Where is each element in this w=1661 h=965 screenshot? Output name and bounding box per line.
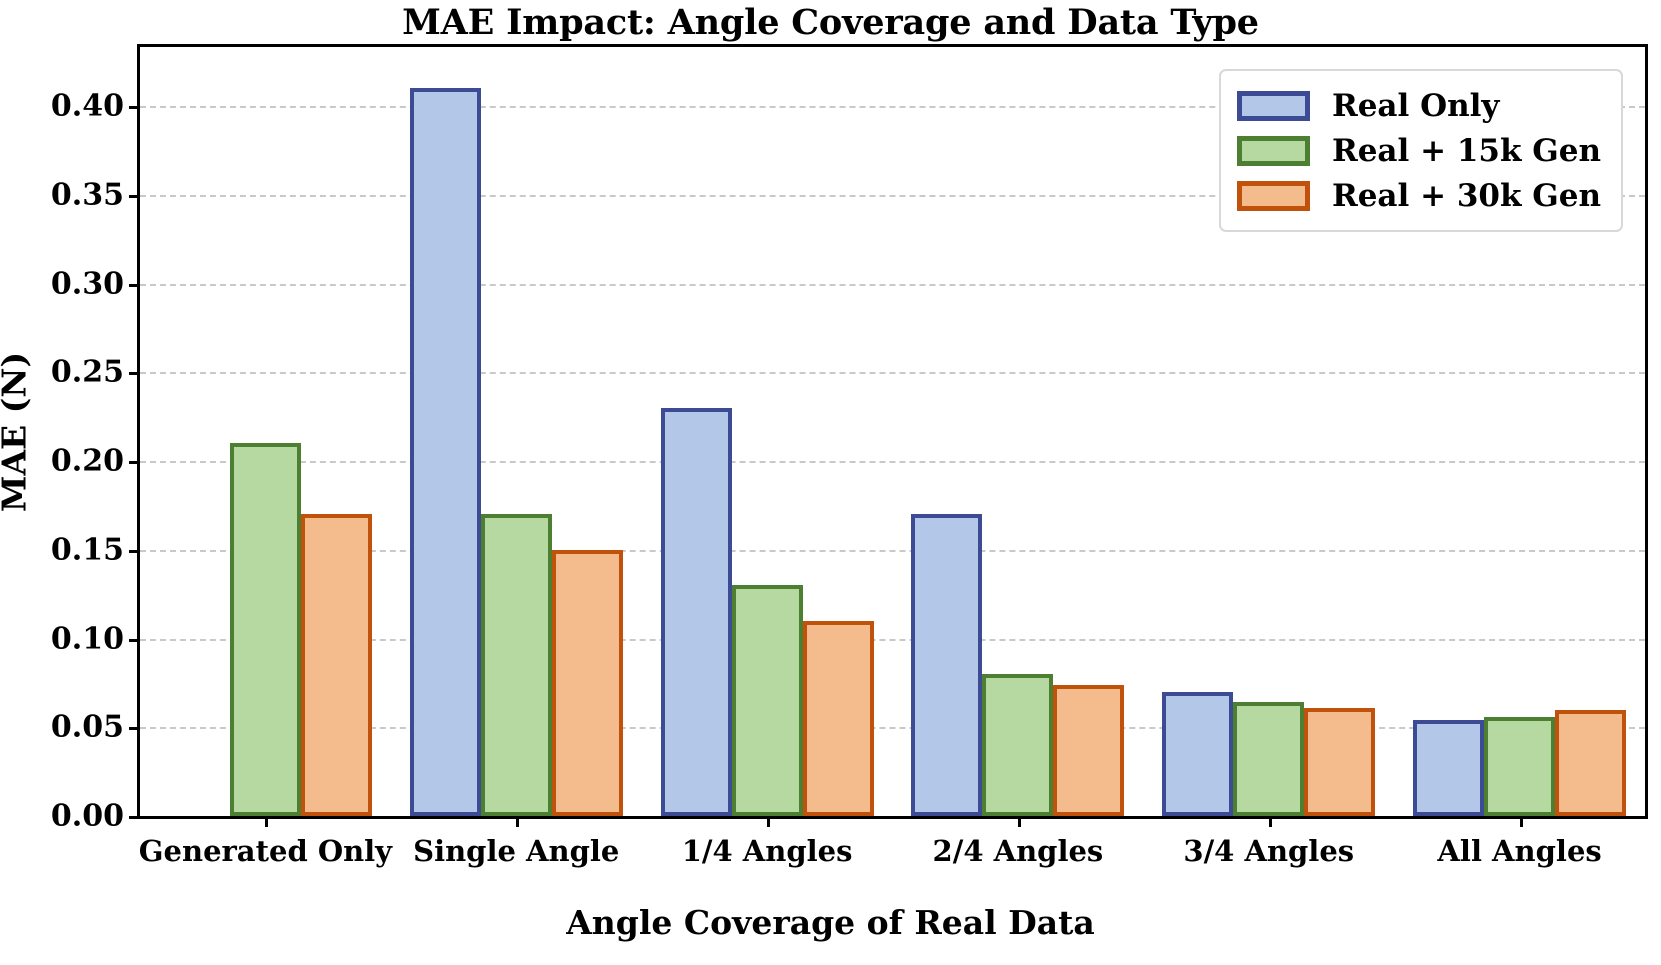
bar[interactable] <box>1555 710 1626 816</box>
bar[interactable] <box>803 621 874 816</box>
x-tick-label: All Angles <box>1437 834 1601 868</box>
x-tick-label: 2/4 Angles <box>933 834 1104 868</box>
legend-swatch-real-30k <box>1237 181 1310 211</box>
y-tick-mark <box>129 816 140 819</box>
y-axis-label: MAE (N) <box>0 352 34 512</box>
legend-swatch-real-15k <box>1237 136 1310 166</box>
bar[interactable] <box>410 88 481 816</box>
bar[interactable] <box>911 514 982 816</box>
y-tick-mark <box>129 284 140 287</box>
y-tick-mark <box>129 195 140 198</box>
legend-item[interactable]: Real + 30k Gen <box>1237 173 1601 218</box>
legend-label: Real Only <box>1332 88 1499 124</box>
x-tick-mark <box>1018 816 1021 827</box>
page-title: MAE Impact: Angle Coverage and Data Type <box>0 2 1661 43</box>
x-tick-label: 3/4 Angles <box>1183 834 1354 868</box>
x-axis-label: Angle Coverage of Real Data <box>0 903 1661 942</box>
bar[interactable] <box>982 674 1053 816</box>
y-tick-label: 0.25 <box>51 355 124 390</box>
bar[interactable] <box>1162 692 1233 816</box>
plot-area: 0.000.050.100.150.200.250.300.350.40 Gen… <box>137 44 1648 819</box>
y-tick-label: 0.30 <box>51 266 124 301</box>
bar[interactable] <box>301 514 372 816</box>
bar[interactable] <box>1304 708 1375 816</box>
y-tick-label: 0.05 <box>51 710 124 745</box>
legend-label: Real + 30k Gen <box>1332 178 1601 214</box>
y-tick-mark <box>129 461 140 464</box>
x-tick-mark <box>767 816 770 827</box>
bar[interactable] <box>1484 717 1555 816</box>
x-tick-mark <box>265 816 268 827</box>
y-tick-label: 0.10 <box>51 621 124 656</box>
chart-figure: MAE Impact: Angle Coverage and Data Type… <box>0 0 1661 965</box>
bar[interactable] <box>1413 720 1484 816</box>
y-tick-mark <box>129 372 140 375</box>
x-tick-label: Generated Only <box>139 834 392 868</box>
y-tick-label: 0.35 <box>51 177 124 212</box>
legend-item[interactable]: Real Only <box>1237 83 1601 128</box>
bar[interactable] <box>1053 685 1124 816</box>
y-tick-mark <box>129 550 140 553</box>
bar[interactable] <box>552 550 623 816</box>
legend-item[interactable]: Real + 15k Gen <box>1237 128 1601 173</box>
y-tick-mark <box>129 639 140 642</box>
bar[interactable] <box>481 514 552 816</box>
y-tick-label: 0.20 <box>51 444 124 479</box>
y-tick-label: 0.00 <box>51 799 124 834</box>
bar[interactable] <box>732 585 803 816</box>
bar[interactable] <box>1233 702 1304 816</box>
bar[interactable] <box>230 443 301 816</box>
x-tick-label: 1/4 Angles <box>682 834 853 868</box>
legend-swatch-real-only <box>1237 91 1310 121</box>
y-tick-label: 0.40 <box>51 89 124 124</box>
x-tick-mark <box>516 816 519 827</box>
x-tick-mark <box>1520 816 1523 827</box>
y-tick-mark <box>129 106 140 109</box>
bar[interactable] <box>661 408 732 816</box>
x-tick-mark <box>1269 816 1272 827</box>
y-tick-label: 0.15 <box>51 532 124 567</box>
legend: Real Only Real + 15k Gen Real + 30k Gen <box>1219 69 1623 232</box>
y-tick-mark <box>129 727 140 730</box>
x-tick-label: Single Angle <box>413 834 619 868</box>
legend-label: Real + 15k Gen <box>1332 133 1601 169</box>
